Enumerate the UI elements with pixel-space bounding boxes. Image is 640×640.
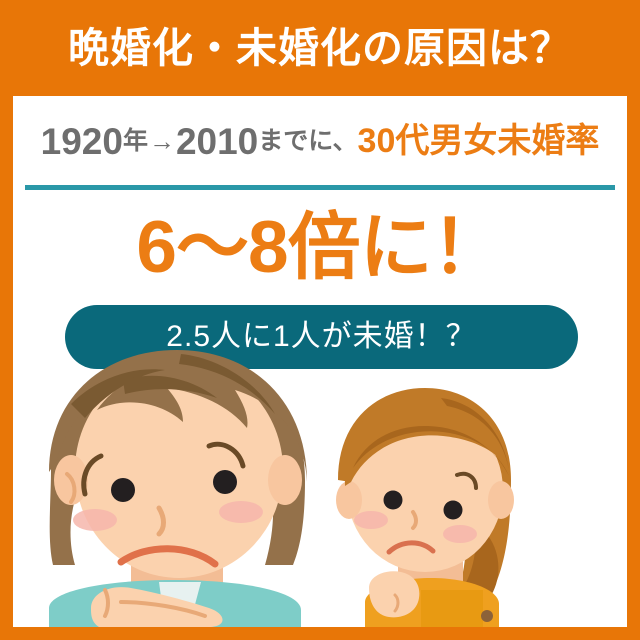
subtitle-connector: までに、 bbox=[258, 129, 357, 154]
frame-border-left bbox=[0, 0, 13, 640]
teal-divider bbox=[25, 185, 615, 190]
frame-border-bottom bbox=[0, 627, 640, 640]
header-band: 晩婚化・未婚化の原因は？ bbox=[0, 0, 640, 96]
subtitle-year-unit: 年 bbox=[123, 129, 148, 154]
frame-border-right bbox=[627, 0, 640, 640]
man-figure bbox=[49, 350, 307, 627]
subtitle-accent: 30代男女未婚率 bbox=[358, 124, 600, 158]
page-title: 晩婚化・未婚化の原因は？ bbox=[68, 28, 572, 69]
headline-text: 6〜8倍に！ bbox=[136, 211, 503, 284]
headline-block: 6〜8倍に！ bbox=[13, 197, 627, 297]
subtitle-year-to: 2010 bbox=[176, 123, 258, 160]
woman-figure bbox=[336, 388, 514, 627]
arrow-right-icon: → bbox=[148, 128, 176, 154]
subtitle-year-from: 1920 bbox=[41, 123, 123, 160]
infographic-card: 晩婚化・未婚化の原因は？ 1920 年 → 2010 までに、 30代男女未婚率… bbox=[0, 0, 640, 640]
illustration-couple bbox=[13, 340, 627, 627]
subtitle-line: 1920 年 → 2010 までに、 30代男女未婚率 bbox=[13, 112, 627, 170]
